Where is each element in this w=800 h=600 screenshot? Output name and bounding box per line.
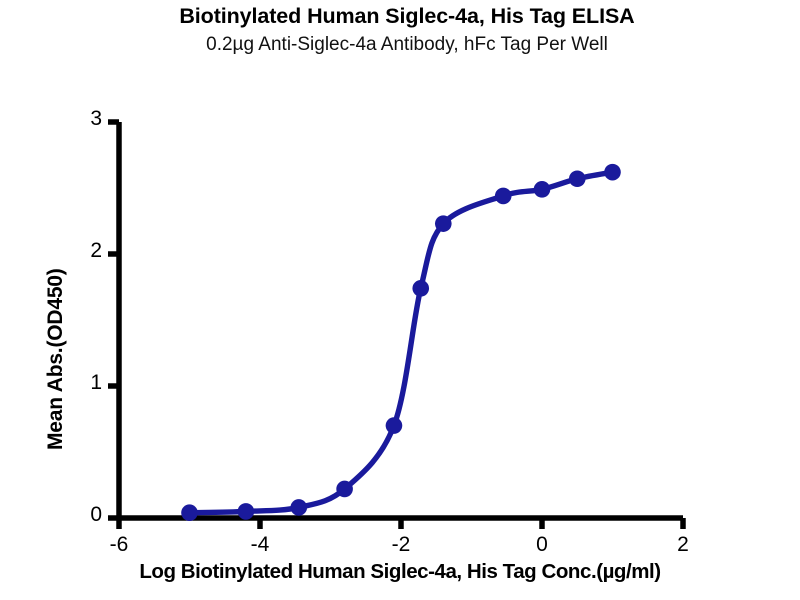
page-title: Biotinylated Human Siglec-4a, His Tag EL…	[0, 4, 800, 29]
chart-header: Biotinylated Human Siglec-4a, His Tag EL…	[0, 0, 800, 56]
plot-area	[0, 0, 800, 600]
y-axis-tick-label: 2	[62, 239, 102, 263]
data-point-marker	[386, 417, 403, 434]
data-point-marker	[238, 503, 255, 520]
y-axis-title: Mean Abs.(OD450)	[44, 268, 68, 450]
data-point-marker	[495, 188, 512, 205]
data-point-marker	[604, 164, 621, 181]
data-point-marker	[534, 181, 551, 198]
data-point-marker	[412, 280, 429, 297]
data-point-marker	[569, 170, 586, 187]
data-point-marker	[181, 504, 198, 521]
y-axis-tick-label: 3	[62, 107, 102, 131]
data-point-marker	[290, 499, 307, 516]
y-axis-tick-label: 0	[62, 503, 102, 527]
chart-subtitle: 0.2µg Anti-Siglec-4a Antibody, hFc Tag P…	[0, 34, 800, 56]
x-axis-tick-label: -6	[96, 533, 142, 557]
elisa-chart-figure: Biotinylated Human Siglec-4a, His Tag EL…	[0, 0, 800, 600]
x-axis-tick-label: 0	[519, 533, 565, 557]
data-point-marker	[336, 481, 353, 498]
data-point-marker	[435, 215, 452, 232]
y-axis-tick-label: 1	[62, 371, 102, 395]
x-axis-title: Log Biotinylated Human Siglec-4a, His Ta…	[0, 560, 800, 584]
x-axis-tick-label: -4	[237, 533, 283, 557]
data-series-line	[190, 172, 613, 513]
x-axis-tick-label: -2	[378, 533, 424, 557]
x-axis-tick-label: 2	[660, 533, 706, 557]
